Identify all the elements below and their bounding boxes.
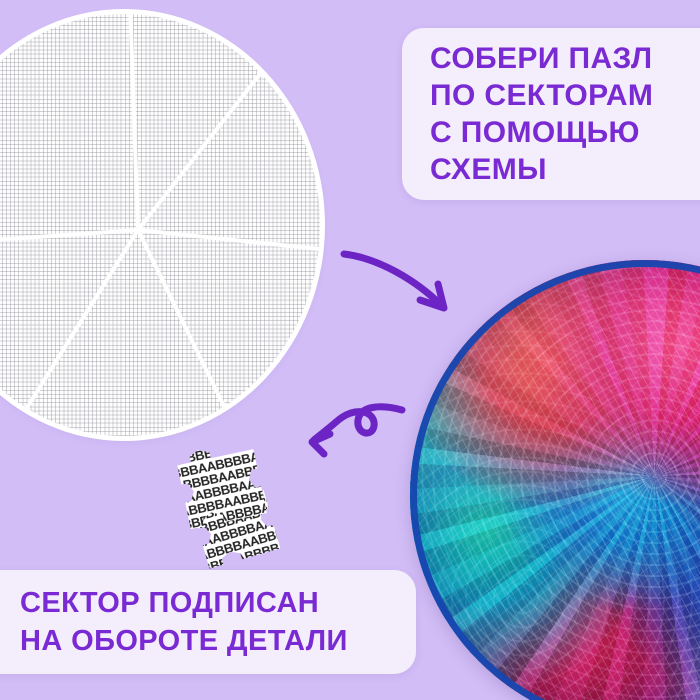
headline-line: с помощью [430,114,653,151]
instruction-panel-sector-label: Сектор подписан на обороте детали [0,570,416,674]
looping-arrow-left-icon [298,388,423,468]
sector-divider-line [138,228,320,263]
instruction-assemble-text: Собери пазл по секторам с помощью схемы [430,40,653,188]
headline-line: Собери пазл [430,40,653,77]
instruction-sector-label-text: Сектор подписан на обороте детали [20,584,348,660]
headline-line: на обороте детали [20,622,348,660]
headline-line: по секторам [430,77,653,114]
curved-arrow-down-right-icon [330,228,470,328]
sector-divider-line [0,229,140,436]
sector-schematic-circle [0,14,320,436]
sector-divider-line [0,228,138,253]
sector-divider-line [126,14,140,230]
sector-divider-line [136,14,320,231]
puzzle-pieces-group: BBAABBBBAABBBBAABB AABBBBAABBBBAABBBB BB… [168,440,288,555]
headline-line: Сектор подписан [20,584,348,622]
instruction-panel-assemble: Собери пазл по секторам с помощью схемы [402,28,700,200]
headline-line: схемы [430,151,653,188]
sector-divider-line [136,229,271,436]
promo-canvas: BBAABBBBAABBBBAABB AABBBBAABBBBAABBBB BB… [0,0,700,700]
